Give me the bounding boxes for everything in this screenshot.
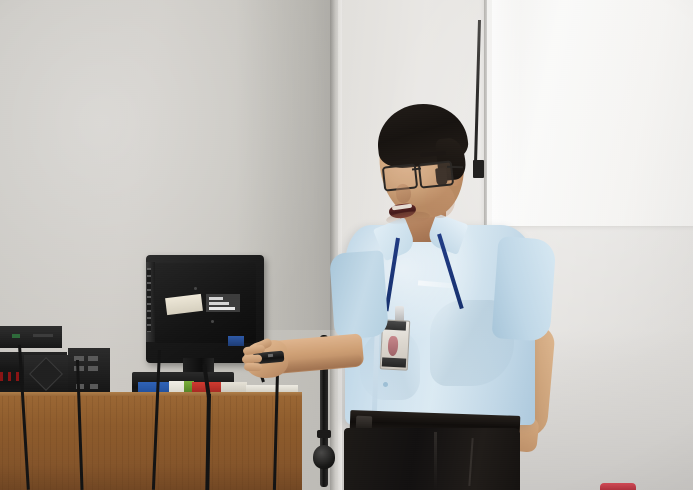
cheek-shading [425,184,455,218]
monitor-label-line [209,307,235,310]
monitor-label-line [209,297,223,300]
rack-stripe [33,334,53,337]
monitor-vent-slots [147,268,151,332]
wooden-podium [0,396,302,490]
monitor-port [228,336,244,346]
badge-footer-band [382,357,406,367]
audio-rack-upper [0,326,62,348]
monitor-screw [194,287,197,290]
right-sleeve [492,236,557,342]
finger [244,363,262,372]
glasses-lens-right [418,160,454,188]
stand-knob [313,445,335,469]
control-button [90,384,98,389]
whiteboard-glare [492,0,520,226]
trousers [344,428,520,490]
antenna-base [473,160,484,178]
trouser-crease [434,432,437,490]
wall-corner [330,0,342,490]
shirt-button [383,382,388,387]
monitor-label-line [209,302,229,305]
remote-button [268,354,273,357]
control-button [88,356,98,361]
photograph-scene: A man in a light blue short-sleeved shir… [0,0,693,490]
rack-led [12,334,20,338]
red-object [600,483,636,490]
left-sleeve [329,250,389,340]
monitor-screw [211,320,214,323]
stand-collar [317,430,331,438]
control-button [88,366,98,371]
